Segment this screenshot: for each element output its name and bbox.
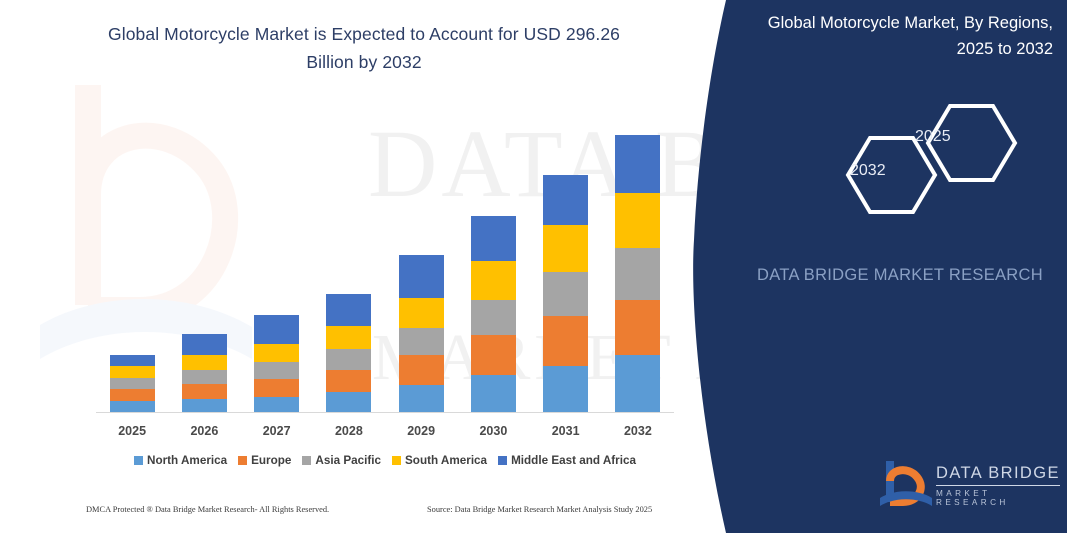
bar-segment [615, 355, 660, 412]
logo-title: DATA BRIDGE [936, 464, 1060, 486]
x-tick-2031: 2031 [543, 424, 588, 444]
bar-chart-plot-area [96, 100, 674, 412]
bar-segment [254, 362, 299, 379]
legend-label: Europe [251, 454, 291, 467]
chart-footer: DMCA Protected ® Data Bridge Market Rese… [0, 505, 730, 525]
bar-segment [471, 335, 516, 375]
logo-subtitle: MARKET RESEARCH [936, 489, 1063, 507]
x-axis-tick-labels: 20252026202720282029203020312032 [96, 424, 674, 444]
x-tick-2029: 2029 [399, 424, 444, 444]
bar-2029 [399, 255, 444, 412]
legend-swatch-icon [238, 456, 247, 465]
bar-segment [399, 385, 444, 412]
bar-segment [471, 300, 516, 335]
bar-segment [326, 349, 371, 370]
bar-segment [254, 315, 299, 344]
bar-segment [254, 344, 299, 362]
bar-2027 [254, 315, 299, 412]
bar-segment [543, 225, 588, 272]
bar-segment [326, 392, 371, 412]
legend-item: Middle East and Africa [498, 454, 636, 467]
legend-swatch-icon [302, 456, 311, 465]
legend-swatch-icon [498, 456, 507, 465]
bar-segment [326, 370, 371, 392]
bar-segment [254, 379, 299, 397]
legend-label: Middle East and Africa [511, 454, 636, 467]
side-panel: Global Motorcycle Market, By Regions, 20… [730, 0, 1067, 533]
bar-segment [326, 326, 371, 349]
bar-2025 [110, 355, 155, 412]
legend-item: North America [134, 454, 227, 467]
bar-segment [182, 334, 227, 355]
bar-2031 [543, 175, 588, 412]
infographic-canvas: DATA BRIDGE MARKET RESEARCH Global Motor… [0, 0, 1067, 533]
bar-segment [471, 375, 516, 412]
bar-segment [110, 401, 155, 412]
bar-segment [543, 366, 588, 412]
bar-2028 [326, 294, 371, 412]
legend-label: Asia Pacific [315, 454, 381, 467]
bar-segment [543, 175, 588, 225]
bar-segment [615, 300, 660, 355]
bar-2026 [182, 334, 227, 412]
bar-segment [399, 355, 444, 385]
legend-swatch-icon [392, 456, 401, 465]
legend-item: Asia Pacific [302, 454, 381, 467]
x-tick-2025: 2025 [110, 424, 155, 444]
legend-item: South America [392, 454, 487, 467]
bar-segment [543, 272, 588, 316]
side-panel-title: Global Motorcycle Market, By Regions, 20… [728, 10, 1053, 62]
legend-label: North America [147, 454, 227, 467]
bar-2032 [615, 135, 660, 412]
brand-name-text: DATA BRIDGE MARKET RESEARCH [750, 262, 1050, 288]
chart-legend: North AmericaEuropeAsia PacificSouth Ame… [96, 454, 674, 467]
chart-panel: DATA BRIDGE MARKET RESEARCH Global Motor… [0, 0, 730, 533]
bar-segment [182, 384, 227, 399]
x-tick-2028: 2028 [326, 424, 371, 444]
hexagon-group [825, 98, 1045, 218]
bar-segment [110, 366, 155, 378]
company-logo: DATA BRIDGE MARKET RESEARCH [878, 458, 1063, 510]
bar-segment [615, 193, 660, 248]
chart-title: Global Motorcycle Market is Expected to … [86, 20, 642, 76]
bar-2030 [471, 216, 516, 412]
x-tick-2032: 2032 [615, 424, 660, 444]
bar-segment [543, 316, 588, 366]
hexagon-2025-label: 2025 [915, 128, 951, 146]
bar-segment [110, 378, 155, 389]
bar-segment [471, 261, 516, 300]
bar-segment [182, 370, 227, 384]
logo-wordmark: DATA BRIDGE MARKET RESEARCH [936, 464, 1063, 507]
x-axis-line [96, 412, 674, 413]
legend-item: Europe [238, 454, 291, 467]
footer-source: Source: Data Bridge Market Research Mark… [427, 505, 652, 514]
x-tick-2026: 2026 [182, 424, 227, 444]
legend-swatch-icon [134, 456, 143, 465]
bar-segment [399, 298, 444, 328]
bar-segment [399, 255, 444, 298]
x-tick-2027: 2027 [254, 424, 299, 444]
bar-segment [182, 355, 227, 370]
bar-segment [110, 389, 155, 401]
bar-segment [254, 397, 299, 412]
logo-mark-icon [878, 458, 934, 508]
footer-copyright: DMCA Protected ® Data Bridge Market Rese… [86, 505, 329, 514]
bar-segment [326, 294, 371, 326]
bar-segment [182, 399, 227, 412]
bar-segment [615, 248, 660, 300]
bar-segment [399, 328, 444, 355]
legend-label: South America [405, 454, 487, 467]
hexagon-2032-label: 2032 [850, 162, 886, 180]
bar-segment [615, 135, 660, 193]
x-tick-2030: 2030 [471, 424, 516, 444]
bar-segment [471, 216, 516, 261]
bar-segment [110, 355, 155, 366]
